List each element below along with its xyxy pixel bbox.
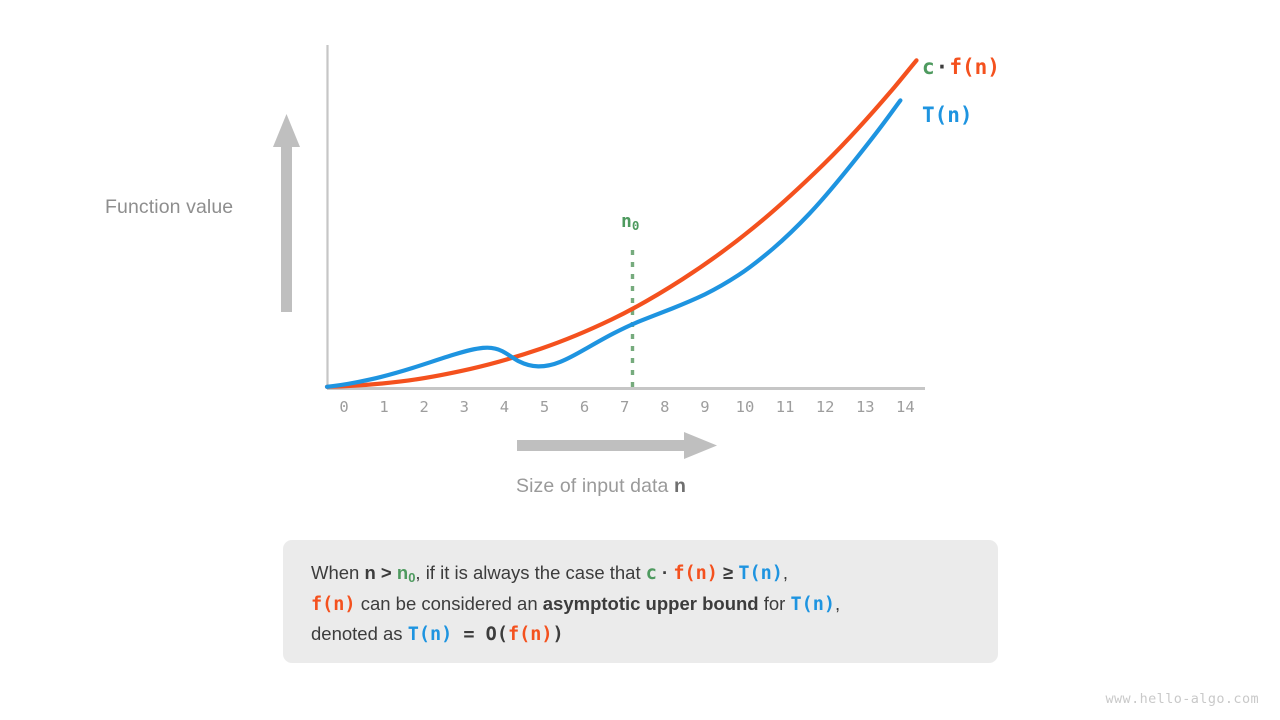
figure-canvas: Function value Size of input data n n0 0… bbox=[0, 0, 1280, 720]
caption-l2-t-n: T(n) bbox=[790, 594, 835, 615]
caption-l1-t3: , if it is always the case that bbox=[415, 562, 645, 583]
x-tick-0: 0 bbox=[339, 400, 348, 416]
x-tick-8: 8 bbox=[660, 400, 669, 416]
caption-line-3: denoted as T(n) = O(f(n)) bbox=[311, 619, 998, 649]
arrow-up-icon bbox=[273, 114, 300, 312]
caption-l1-dot: · bbox=[657, 562, 673, 583]
caption-box: When n > n0, if it is always the case th… bbox=[283, 540, 998, 663]
curve-t-n bbox=[327, 100, 900, 386]
caption-line-1: When n > n0, if it is always the case th… bbox=[311, 558, 998, 589]
caption-l1-t-n: T(n) bbox=[738, 563, 783, 584]
legend-coefficient: c bbox=[922, 55, 935, 79]
x-tick-14: 14 bbox=[896, 400, 915, 416]
caption-l3-t1: denoted as bbox=[311, 623, 408, 644]
legend-operator-dot: · bbox=[935, 55, 950, 79]
caption-l1-c: c bbox=[646, 563, 657, 584]
footer-watermark: www.hello-algo.com bbox=[1106, 691, 1260, 707]
caption-l1-n0-base: n bbox=[397, 562, 408, 583]
caption-l3-eq-big-o: = O( bbox=[452, 624, 508, 645]
x-tick-4: 4 bbox=[500, 400, 509, 416]
x-tick-9: 9 bbox=[700, 400, 709, 416]
y-axis-label: Function value bbox=[105, 198, 233, 218]
x-axis-label-variable: n bbox=[674, 475, 686, 497]
x-tick-1: 1 bbox=[379, 400, 388, 416]
x-tick-6: 6 bbox=[580, 400, 589, 416]
caption-l2-f-n: f(n) bbox=[311, 594, 356, 615]
legend-item-c-f-n: c·f(n) bbox=[922, 57, 1000, 78]
legend-item-t-n: T(n) bbox=[922, 105, 973, 126]
arrow-right-icon bbox=[517, 432, 717, 459]
caption-l1-t1: When bbox=[311, 562, 364, 583]
caption-l1-ge: ≥ bbox=[718, 562, 738, 583]
n0-label-subscript: 0 bbox=[632, 218, 640, 233]
x-tick-12: 12 bbox=[816, 400, 835, 416]
caption-line-2: f(n) can be considered an asymptotic upp… bbox=[311, 589, 998, 619]
caption-l3-t-n: T(n) bbox=[408, 624, 453, 645]
x-tick-5: 5 bbox=[540, 400, 549, 416]
caption-l1-n0-sub: 0 bbox=[408, 570, 415, 585]
caption-l1-f-n: f(n) bbox=[673, 563, 718, 584]
n0-label-base: n bbox=[621, 211, 632, 232]
caption-l2-t2: for bbox=[759, 593, 791, 614]
legend-function-t-n: T(n) bbox=[922, 103, 973, 127]
caption-l2-t1: can be considered an bbox=[356, 593, 543, 614]
x-axis-tick-labels: 01234567891011121314 bbox=[327, 400, 925, 422]
caption-l1-n: n bbox=[364, 562, 375, 583]
caption-l2-bold-term: asymptotic upper bound bbox=[543, 593, 759, 614]
caption-l1-t2: > bbox=[376, 562, 397, 583]
caption-l1-t4: , bbox=[783, 562, 788, 583]
legend-function-f-n: f(n) bbox=[949, 55, 1000, 79]
x-tick-7: 7 bbox=[620, 400, 629, 416]
caption-l2-t3: , bbox=[835, 593, 840, 614]
x-tick-11: 11 bbox=[776, 400, 795, 416]
n0-threshold-label: n0 bbox=[621, 213, 639, 231]
x-tick-2: 2 bbox=[420, 400, 429, 416]
x-tick-13: 13 bbox=[856, 400, 875, 416]
caption-l3-f-n: f(n) bbox=[508, 624, 553, 645]
x-tick-10: 10 bbox=[736, 400, 755, 416]
x-tick-3: 3 bbox=[460, 400, 469, 416]
caption-l3-close-paren: ) bbox=[553, 624, 564, 645]
x-axis-label: Size of input data n bbox=[516, 477, 686, 497]
x-axis-label-prefix: Size of input data bbox=[516, 475, 674, 497]
